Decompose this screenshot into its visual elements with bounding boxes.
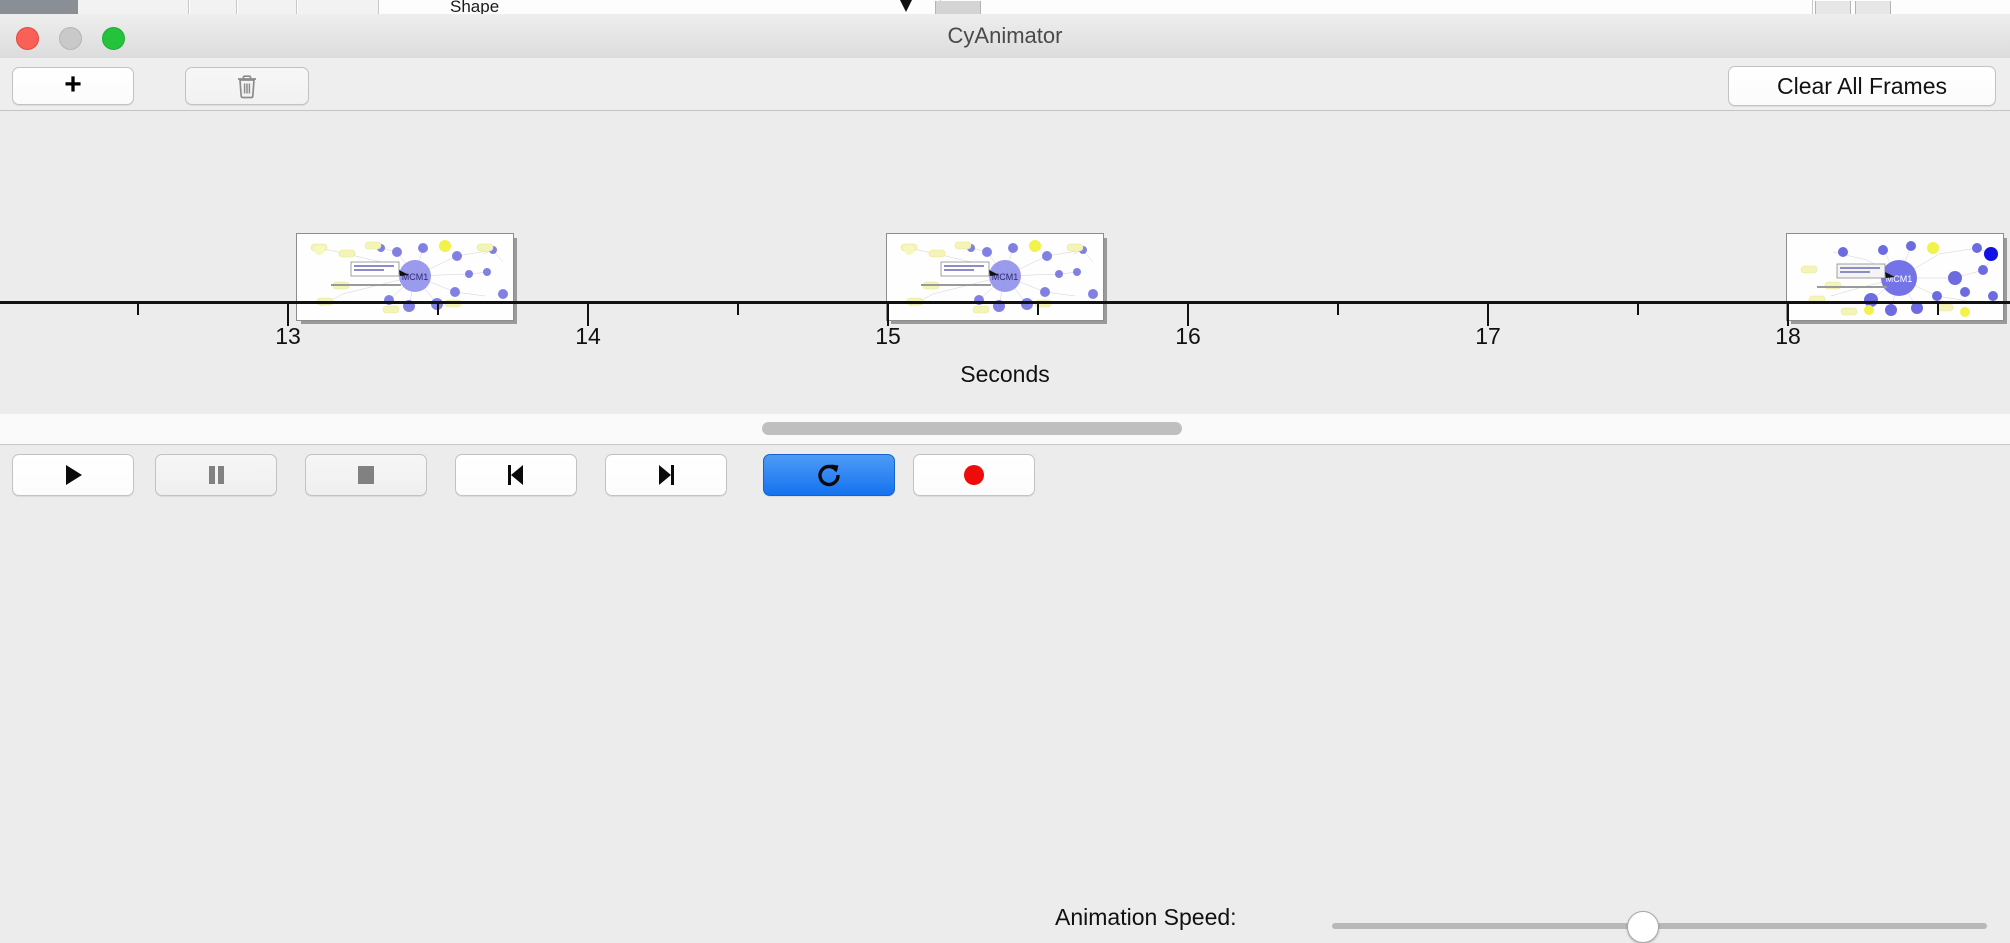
animation-speed-slider[interactable] [1332, 923, 1987, 929]
axis-title: Seconds [0, 361, 2010, 388]
background-window-strip: Shape [0, 0, 2010, 15]
axis-tick-label: 14 [575, 323, 601, 350]
plus-icon: + [64, 70, 82, 100]
network-graph-a: MCM1 [887, 234, 1103, 320]
frame-thumbnail: MCM1 [296, 233, 514, 321]
scrollbar-thumb[interactable] [762, 422, 1182, 435]
skip-backward-icon [503, 463, 529, 487]
network-graph-a: MCM1 [297, 234, 513, 320]
background-window-sidebar [0, 0, 78, 14]
axis-tick-minor [1037, 304, 1039, 315]
delete-frame-button[interactable] [185, 67, 309, 105]
frame-toolbar: + Clear All Frames [0, 58, 2010, 111]
timeline-scrollbar[interactable] [0, 414, 2010, 445]
timeline-frame[interactable]: MCM1 [886, 233, 1106, 323]
loop-icon [814, 460, 844, 490]
timeline-frame[interactable]: MCM1 [1786, 233, 2006, 323]
axis-tick-minor [137, 304, 139, 315]
axis-tick-minor [737, 304, 739, 315]
timeline-frame[interactable]: MCM1 [296, 233, 516, 323]
record-button[interactable] [913, 454, 1035, 496]
skip-end-button[interactable] [605, 454, 727, 496]
pause-button[interactable] [155, 454, 277, 496]
pause-icon [204, 463, 228, 487]
axis-tick-label: 12 [0, 323, 1, 350]
animation-speed-label: Animation Speed: [1055, 904, 1237, 931]
play-button[interactable] [12, 454, 134, 496]
axis-tick-minor [1337, 304, 1339, 315]
network-graph-b: MCM1 [1787, 234, 2003, 320]
clear-all-frames-label: Clear All Frames [1777, 73, 1947, 100]
animation-speed-thumb[interactable] [1627, 911, 1659, 943]
transport-bar: Animation Speed: [0, 445, 2010, 510]
add-frame-button[interactable]: + [12, 67, 134, 105]
stop-button[interactable] [305, 454, 427, 496]
axis-tick-label: 17 [1475, 323, 1501, 350]
frame-thumbnail: MCM1 [1786, 233, 2004, 321]
clear-all-frames-button[interactable]: Clear All Frames [1728, 66, 1996, 106]
play-icon [60, 462, 86, 488]
record-icon [961, 462, 987, 488]
timeline-axis [0, 301, 2010, 304]
window-title: CyAnimator [0, 14, 2010, 58]
skip-forward-icon [653, 463, 679, 487]
trash-icon [235, 73, 259, 99]
axis-tick-label: 16 [1175, 323, 1201, 350]
scrollbar-track[interactable] [0, 414, 2010, 443]
skip-start-button[interactable] [455, 454, 577, 496]
background-window-label: Shape [450, 0, 499, 15]
frame-thumbnail: MCM1 [886, 233, 1104, 321]
title-bar: CyAnimator [0, 14, 2010, 59]
axis-tick-minor [1937, 304, 1939, 315]
axis-tick-label: 15 [875, 323, 901, 350]
axis-tick-label: 18 [1775, 323, 1801, 350]
stop-icon [354, 463, 378, 487]
axis-tick-minor [1637, 304, 1639, 315]
axis-tick-label: 13 [275, 323, 301, 350]
cyanimator-window: Shape CyAnimator + Clear All Frames [0, 0, 2010, 510]
loop-button[interactable] [763, 454, 895, 496]
timeline-panel[interactable]: MCM1 [0, 111, 2010, 415]
axis-tick-minor [437, 304, 439, 315]
